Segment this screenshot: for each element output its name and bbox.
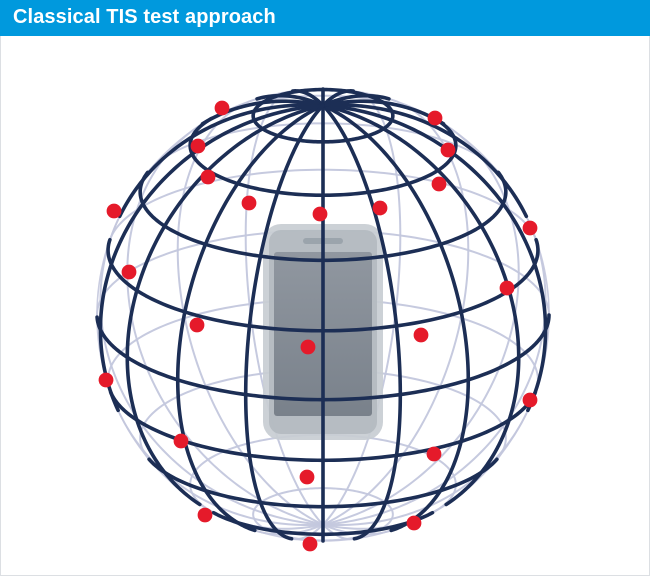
slide-root: Classical TIS test approach [0,0,650,576]
test-point-p13 [500,281,515,296]
sphere-grid-front [97,89,549,541]
test-point-p12 [122,265,137,280]
header-bar: Classical TIS test approach [0,0,650,36]
test-point-p19 [174,434,189,449]
test-point-p5 [201,170,216,185]
test-point-p17 [99,373,114,388]
test-point-p23 [407,516,422,531]
test-point-p21 [300,470,315,485]
test-point-p1 [215,101,230,116]
test-point-p2 [428,111,443,126]
test-point-p4 [441,143,456,158]
test-point-p24 [303,537,318,552]
test-point-p9 [373,201,388,216]
test-point-p15 [414,328,429,343]
test-point-p10 [107,204,122,219]
sphere-svg [1,36,650,576]
test-point-p11 [523,221,538,236]
tis-measurement-sphere-figure [1,36,650,576]
page-title: Classical TIS test approach [13,0,276,36]
test-point-p22 [198,508,213,523]
test-point-p16 [301,340,316,355]
test-point-p3 [191,139,206,154]
test-point-p20 [427,447,442,462]
test-point-p7 [242,196,257,211]
test-point-p6 [432,177,447,192]
test-point-p8 [313,207,328,222]
content-panel [0,36,650,576]
test-point-p18 [523,393,538,408]
test-point-p14 [190,318,205,333]
